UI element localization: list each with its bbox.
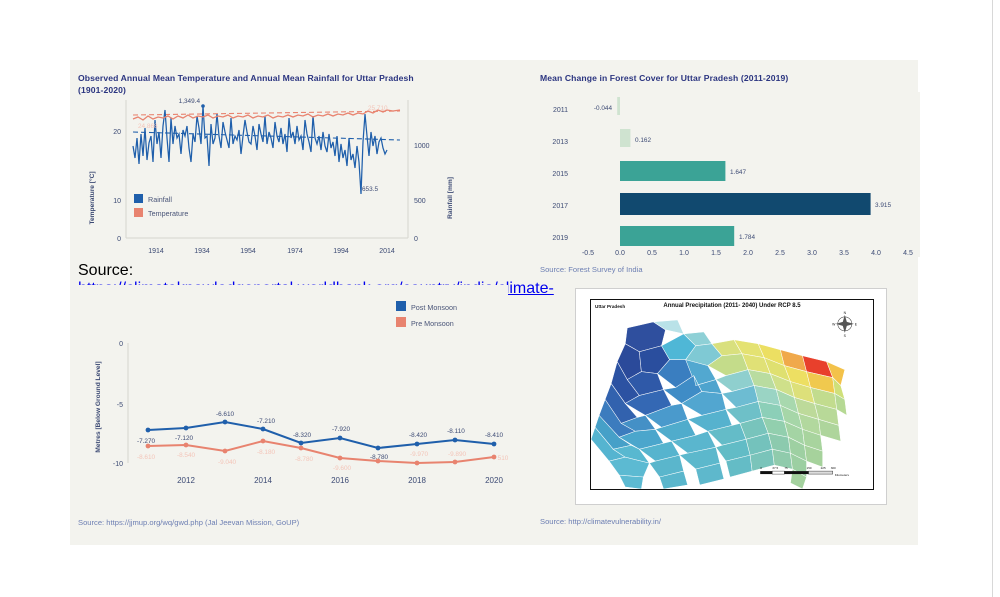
compass-rose: N S E W [832, 311, 858, 338]
svg-text:4.5: 4.5 [903, 250, 913, 257]
svg-text:-8.420: -8.420 [409, 432, 428, 439]
forest-value-2013: 0.162 [635, 137, 651, 144]
svg-text:-8.320: -8.320 [293, 432, 312, 439]
svg-text:4.0: 4.0 [871, 250, 881, 257]
legend-label-pre-monsoon: Pre Monsoon [411, 319, 454, 328]
map-svg: N S E W 0 37.5 75 150 [591, 300, 873, 489]
svg-text:37.5: 37.5 [772, 466, 778, 470]
water-xtick-2012: 2012 [177, 476, 195, 485]
legend-label-temperature: Temperature [148, 209, 188, 218]
svg-text:-7.120: -7.120 [175, 435, 194, 442]
temperature-start-label: 24.868 [138, 123, 158, 130]
svg-text:1.5: 1.5 [711, 250, 721, 257]
table-row [620, 129, 630, 147]
svg-text:0.5: 0.5 [647, 250, 657, 257]
svg-text:3.5: 3.5 [839, 250, 849, 257]
svg-text:Kilometers: Kilometers [835, 473, 850, 477]
table-row [620, 193, 871, 215]
panel-forest: Mean Change in Forest Cover for Uttar Pr… [540, 72, 920, 287]
svg-text:20: 20 [113, 129, 121, 136]
water-ytick-5: -5 [117, 402, 123, 409]
forest-value-2011: -0.044 [594, 105, 613, 112]
svg-text:-8.410: -8.410 [485, 432, 504, 439]
panel-water: Average Depth of Ground Water Level for … [78, 305, 508, 545]
rainfall-max-label: 1,349.4 [179, 98, 201, 105]
svg-text:1000: 1000 [414, 143, 430, 150]
svg-text:-9.040: -9.040 [218, 459, 237, 466]
svg-text:1914: 1914 [148, 248, 164, 255]
svg-text:0.0: 0.0 [615, 250, 625, 257]
svg-text:-9.970: -9.970 [410, 451, 429, 458]
svg-text:-7.210: -7.210 [257, 418, 276, 425]
legend-label-rainfall: Rainfall [148, 195, 172, 204]
svg-text:2014: 2014 [379, 248, 395, 255]
svg-text:-9.600: -9.600 [333, 465, 352, 472]
panel-map: Annual Precipitation (2011- 2040) Under … [540, 288, 920, 538]
svg-text:150: 150 [807, 466, 812, 470]
water-chart-svg: Post Monsoon Pre Monsoon 0 -5 -10 Metres… [78, 285, 508, 510]
forest-value-2015: 1.647 [730, 169, 746, 176]
svg-text:2.0: 2.0 [743, 250, 753, 257]
svg-text:3.0: 3.0 [807, 250, 817, 257]
legend-swatch-rainfall [134, 194, 143, 203]
legend-swatch-temperature [134, 208, 143, 217]
table-row [620, 161, 725, 181]
svg-text:300: 300 [831, 466, 836, 470]
legend-swatch-post-monsoon [396, 301, 406, 311]
page-right-rule [992, 0, 993, 597]
water-xtick-2014: 2014 [254, 476, 272, 485]
svg-text:Temperature [°C]: Temperature [°C] [88, 171, 96, 224]
svg-text:1954: 1954 [240, 248, 256, 255]
water-ytick-10: -10 [113, 461, 123, 468]
svg-text:N: N [844, 311, 847, 315]
water-source: Source: https://jjmup.org/wq/gwd.php (Ja… [78, 517, 299, 528]
svg-text:-0.5: -0.5 [582, 250, 594, 257]
map-frame: Annual Precipitation (2011- 2040) Under … [590, 299, 874, 490]
dashboard-board: Observed Annual Mean Temperature and Ann… [70, 60, 918, 545]
svg-text:-7.920: -7.920 [332, 426, 351, 433]
svg-text:225: 225 [821, 466, 826, 470]
svg-text:Rainfall [mm]: Rainfall [mm] [447, 177, 454, 219]
water-xtick-2018: 2018 [408, 476, 426, 485]
svg-text:1.0: 1.0 [679, 250, 689, 257]
svg-text:75: 75 [784, 466, 788, 470]
svg-text:Metres [Below Ground Level]: Metres [Below Ground Level] [95, 361, 102, 452]
forest-cat-2019: 2019 [552, 235, 568, 242]
svg-text:2.5: 2.5 [775, 250, 785, 257]
panel-climate: Observed Annual Mean Temperature and Ann… [78, 72, 508, 287]
svg-text:1994: 1994 [333, 248, 349, 255]
climate-source-prefix: Source: [78, 262, 133, 279]
climate-chart-svg: 20 10 0 Temperature [°C] 1000 500 0 Rain… [78, 98, 508, 258]
forest-chart-title: Mean Change in Forest Cover for Uttar Pr… [540, 72, 920, 84]
svg-text:0: 0 [414, 236, 418, 243]
svg-text:-8.610: -8.610 [137, 454, 156, 461]
svg-text:E: E [855, 322, 858, 326]
table-row [620, 226, 734, 246]
precipitation-map[interactable]: Annual Precipitation (2011- 2040) Under … [575, 288, 887, 505]
svg-text:1934: 1934 [194, 248, 210, 255]
svg-text:510: 510 [498, 455, 508, 462]
rainfall-max-marker [201, 104, 205, 108]
svg-text:W: W [832, 322, 836, 326]
forest-chart-svg: 2011 2013 2015 2017 2019 -0.044 0.162 1.… [540, 92, 920, 257]
water-xtick-2016: 2016 [331, 476, 349, 485]
forest-cat-2017: 2017 [552, 203, 568, 210]
forest-cat-2011: 2011 [553, 107, 568, 114]
map-source: Source: http://climatevulnerability.in/ [540, 516, 661, 527]
svg-text:-7.270: -7.270 [137, 438, 156, 445]
svg-text:-8.110: -8.110 [447, 428, 465, 435]
legend-label-post-monsoon: Post Monsoon [411, 303, 457, 312]
climate-chart-title: Observed Annual Mean Temperature and Ann… [78, 72, 428, 96]
water-ytick-0: 0 [119, 341, 123, 348]
svg-text:-8.180: -8.180 [257, 449, 276, 456]
forest-value-2019: 1.784 [739, 234, 755, 241]
svg-text:-6.610: -6.610 [216, 411, 235, 418]
rainfall-min-label: 653.5 [362, 186, 378, 193]
svg-text:0: 0 [117, 236, 121, 243]
temperature-end-label: 25.710 [368, 105, 388, 112]
water-xtick-2020: 2020 [485, 476, 503, 485]
table-row [617, 97, 620, 115]
svg-text:10: 10 [113, 198, 121, 205]
svg-text:S: S [844, 334, 847, 338]
svg-text:-9.890: -9.890 [448, 451, 467, 458]
forest-value-2017: 3.915 [875, 202, 891, 209]
svg-text:-8.540: -8.540 [177, 452, 196, 459]
svg-text:1974: 1974 [287, 248, 303, 255]
forest-cat-2013: 2013 [552, 139, 568, 146]
forest-cat-2015: 2015 [552, 171, 568, 178]
svg-text:500: 500 [414, 198, 426, 205]
svg-text:-8.780: -8.780 [295, 456, 314, 463]
legend-swatch-pre-monsoon [396, 317, 406, 327]
forest-source: Source: Forest Survey of India [540, 264, 643, 275]
